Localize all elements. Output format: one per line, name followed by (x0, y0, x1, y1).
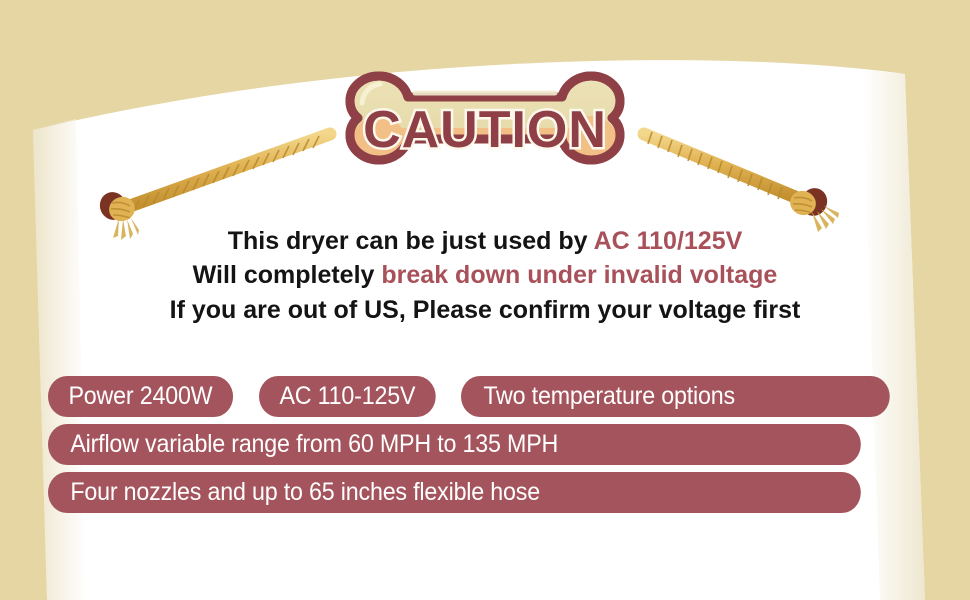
headline-line-2-seg-1: Will completely (193, 261, 382, 289)
caution-label: CAUTION (305, 66, 665, 198)
caution-infographic: CAUTION This dryer can be just used by A… (0, 0, 970, 600)
headline-line-1: This dryer can be just used by AC 110/12… (0, 224, 970, 258)
headline-line-3-seg-1: If you are out of US, Please confirm you… (170, 296, 801, 324)
headline-block: This dryer can be just used by AC 110/12… (0, 224, 970, 327)
headline-line-2: Will completely break down under invalid… (0, 258, 970, 292)
spec-pill-list: Power 2400W AC 110-125V Two temperature … (48, 376, 922, 520)
spec-pill-power: Power 2400W (48, 376, 233, 417)
spec-pill-row: Airflow variable range from 60 MPH to 13… (48, 424, 922, 465)
spec-pill-row: Four nozzles and up to 65 inches flexibl… (48, 472, 922, 513)
headline-line-3: If you are out of US, Please confirm you… (0, 293, 970, 327)
spec-pill-row: Power 2400W AC 110-125V Two temperature … (48, 376, 922, 417)
caution-banner: CAUTION (305, 66, 665, 198)
spec-pill-temperature: Two temperature options (461, 376, 890, 417)
spec-pill-airflow: Airflow variable range from 60 MPH to 13… (48, 424, 861, 465)
headline-line-2-seg-2: break down under invalid voltage (381, 261, 777, 289)
headline-line-1-seg-2: AC 110/125V (594, 227, 743, 255)
headline-line-1-seg-1: This dryer can be just used by (228, 227, 594, 255)
spec-pill-voltage: AC 110-125V (259, 376, 436, 417)
spec-pill-nozzles: Four nozzles and up to 65 inches flexibl… (48, 472, 861, 513)
